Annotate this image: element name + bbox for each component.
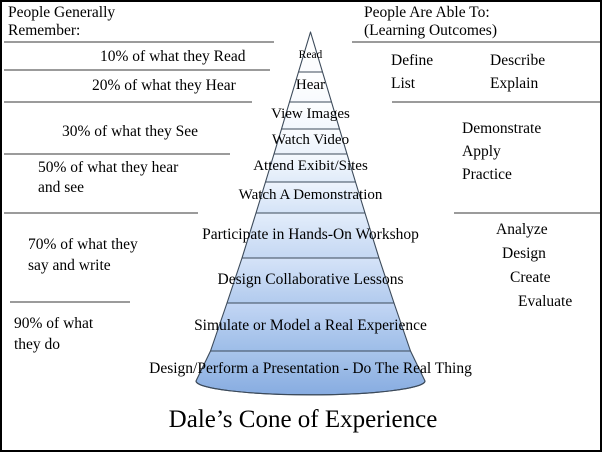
cone-label-attend-exhibit: Attend Exibit/Sites <box>181 158 441 175</box>
right-column-header-line2: (Learning Outcomes) <box>364 22 497 39</box>
cone-label-real-thing: Design/Perform a Presentation - Do The R… <box>91 360 531 377</box>
outcome-analyze: Analyze <box>496 221 548 238</box>
outcome-evaluate: Evaluate <box>518 293 572 310</box>
cone-label-collaborative-lessons: Design Collaborative Lessons <box>131 271 491 288</box>
cone-label-hear: Hear <box>211 77 411 94</box>
left-item-50-percent: 50% of what they hear <box>38 159 178 176</box>
outcome-demonstrate: Demonstrate <box>462 120 541 137</box>
outcome-practice: Practice <box>462 166 512 183</box>
cone-label-hands-on-workshop: Participate in Hands-On Workshop <box>131 226 491 243</box>
cone-label-simulate-model: Simulate or Model a Real Experience <box>111 317 511 334</box>
left-item-90-percent: 90% of what <box>14 315 93 332</box>
figure-title: Dale’s Cone of Experience <box>2 406 602 434</box>
left-item-90-percent-line2: they do <box>14 336 60 353</box>
left-item-30-percent: 30% of what they See <box>62 123 198 140</box>
cone-label-watch-video: Watch Video <box>201 132 421 149</box>
cone-label-watch-demonstration: Watch A Demonstration <box>161 187 461 204</box>
outcome-create: Create <box>510 269 550 286</box>
outcome-apply: Apply <box>462 143 501 160</box>
left-column-header-line1: People Generally <box>8 4 115 21</box>
outcome-explain: Explain <box>490 75 538 92</box>
outcome-describe: Describe <box>490 52 545 69</box>
outcome-design: Design <box>502 245 546 262</box>
right-column-header-line1: People Are Able To: <box>364 4 490 21</box>
left-column-header-line2: Remember: <box>8 22 80 39</box>
left-item-70-percent-line2: say and write <box>28 257 111 274</box>
left-item-70-percent: 70% of what they <box>28 236 138 253</box>
left-item-50-percent-line2: and see <box>38 179 84 196</box>
dales-cone-figure: People Generally Remember: People Are Ab… <box>0 0 602 452</box>
cone-label-view-images: View Images <box>201 106 421 123</box>
cone-label-read: Read <box>211 49 411 62</box>
